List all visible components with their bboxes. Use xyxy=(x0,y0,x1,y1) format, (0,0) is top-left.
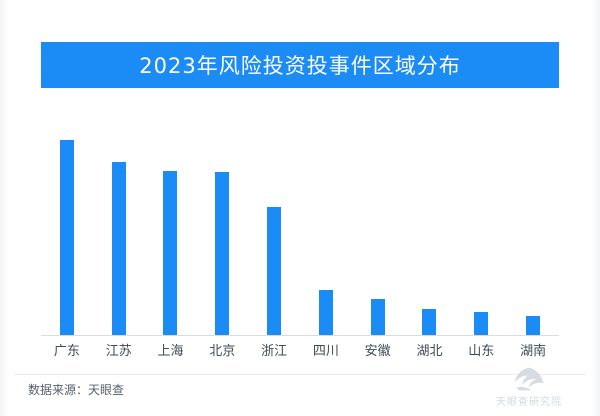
bar-slot xyxy=(352,130,404,335)
brand-watermark: 天眼查研究院 xyxy=(474,366,584,410)
eagle-logo-icon xyxy=(512,366,546,392)
bar xyxy=(267,207,281,335)
bar xyxy=(163,171,177,335)
bar-slot xyxy=(93,130,145,335)
bar-slot xyxy=(507,130,559,335)
bar xyxy=(422,309,436,335)
x-axis-tick-label: 山东 xyxy=(455,341,507,363)
bar-slot xyxy=(145,130,197,335)
bar xyxy=(319,290,333,335)
x-axis-tick-label: 上海 xyxy=(145,341,197,363)
bar-slot xyxy=(300,130,352,335)
chart-title-bar: 2023年风险投资投事件区域分布 xyxy=(41,42,559,88)
bar xyxy=(371,299,385,335)
bar-slot xyxy=(196,130,248,335)
x-axis-line xyxy=(41,335,559,336)
x-axis-tick-label: 浙江 xyxy=(248,341,300,363)
x-axis-tick-labels: 广东江苏上海北京浙江四川安徽湖北山东湖南 xyxy=(41,341,559,363)
bar-slot xyxy=(41,130,93,335)
x-axis-tick-label: 安徽 xyxy=(352,341,404,363)
x-axis-tick-label: 江苏 xyxy=(93,341,145,363)
data-source-label: 数据来源：天眼查 xyxy=(28,381,124,398)
page-edge-shadow-left xyxy=(0,0,9,416)
bar xyxy=(526,316,540,335)
chart-page: 2023年风险投资投事件区域分布 广东江苏上海北京浙江四川安徽湖北山东湖南 数据… xyxy=(0,0,600,416)
x-axis-tick-label: 北京 xyxy=(196,341,248,363)
page-title: 2023年风险投资投事件区域分布 xyxy=(139,50,460,80)
bar-slot xyxy=(404,130,456,335)
bar-series xyxy=(41,130,559,335)
bar xyxy=(215,172,229,335)
x-axis-tick-label: 广东 xyxy=(41,341,93,363)
x-axis-tick-label: 四川 xyxy=(300,341,352,363)
chart-plot-area xyxy=(41,130,559,335)
bar-slot xyxy=(455,130,507,335)
page-edge-shadow-right xyxy=(591,0,600,416)
bar-slot xyxy=(248,130,300,335)
bar xyxy=(112,162,126,335)
bar xyxy=(474,312,488,335)
bar xyxy=(60,140,74,335)
x-axis-tick-label: 湖南 xyxy=(507,341,559,363)
brand-name: 天眼查研究院 xyxy=(496,393,562,408)
x-axis-tick-label: 湖北 xyxy=(404,341,456,363)
